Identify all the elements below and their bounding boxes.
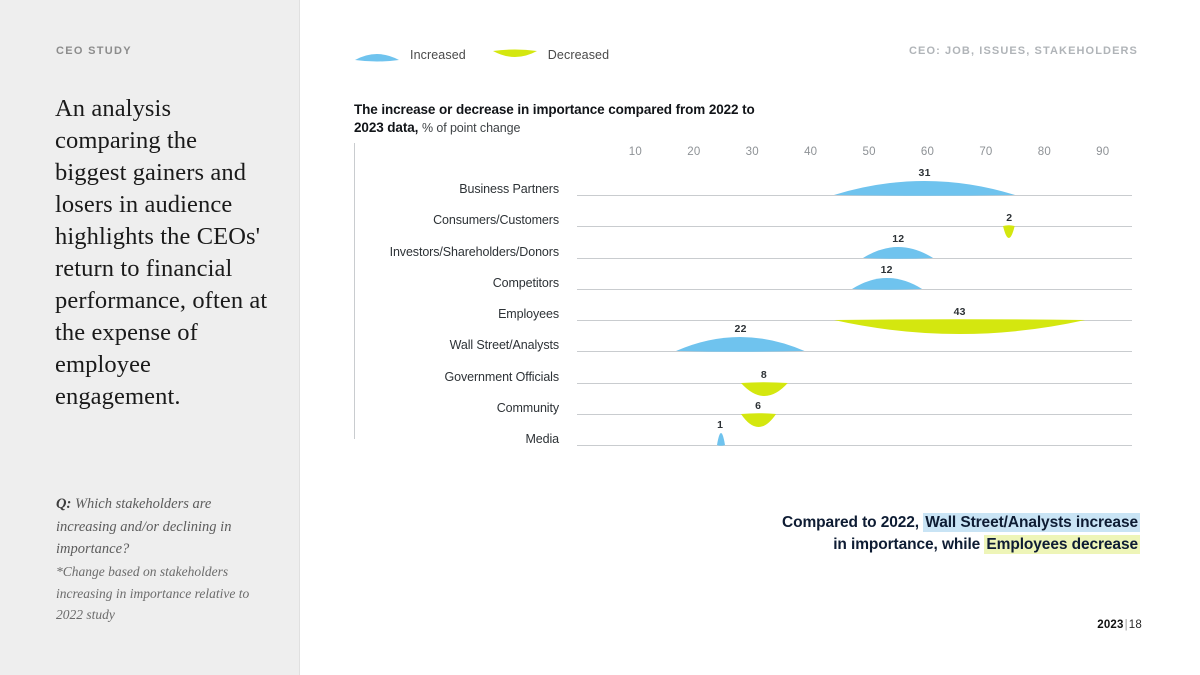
legend-item-decreased: Decreased	[492, 45, 609, 65]
slide-root: CEO STUDY An analysis comparing the bigg…	[0, 0, 1200, 675]
chart-row: Competitors12	[354, 264, 1140, 295]
row-baseline	[577, 351, 1132, 352]
row-label-employees: Employees	[354, 307, 559, 321]
value-label: 43	[954, 306, 966, 318]
lens-shape-increased	[850, 276, 924, 291]
x-axis-tick-80: 80	[1038, 146, 1051, 158]
row-baseline	[577, 226, 1132, 227]
legend-item-increased: Increased	[354, 45, 466, 65]
legend-label-decreased: Decreased	[548, 48, 609, 62]
sidebar: CEO STUDY An analysis comparing the bigg…	[0, 0, 300, 675]
lens-shape-increased	[715, 431, 727, 447]
question-text: Which stakeholders are increasing and/or…	[56, 496, 231, 557]
question-marker: Q:	[56, 496, 71, 512]
row-label-wall-street-analysts: Wall Street/Analysts	[354, 338, 559, 352]
sidebar-question: Q: Which stakeholders are increasing and…	[56, 493, 271, 561]
x-axis-tick-30: 30	[746, 146, 759, 158]
row-baseline	[577, 258, 1132, 259]
header-section-label: CEO: JOB, ISSUES, STAKEHOLDERS	[909, 45, 1138, 57]
row-label-investors-shareholders-donors: Investors/Shareholders/Donors	[354, 245, 559, 259]
footer-year: 2023	[1097, 619, 1123, 631]
chart-row: Community6	[354, 389, 1140, 420]
footer-separator: |	[1125, 619, 1128, 631]
row-baseline	[577, 414, 1132, 415]
value-label: 2	[1006, 212, 1012, 224]
row-label-government-officials: Government Officials	[354, 370, 559, 384]
value-label: 31	[919, 167, 931, 179]
chart-row-list: Business Partners31Consumers/Customers2I…	[354, 170, 1140, 452]
lens-shape-increased	[832, 179, 1017, 197]
chart-row: Wall Street/Analysts22	[354, 326, 1140, 357]
value-label: 1	[717, 419, 723, 431]
row-baseline	[577, 383, 1132, 384]
legend-label-increased: Increased	[410, 48, 466, 62]
decreased-lens-icon	[492, 45, 538, 65]
row-label-media: Media	[354, 432, 559, 446]
footer-pagination: 2023|18	[1097, 619, 1142, 631]
row-label-business-partners: Business Partners	[354, 182, 559, 196]
x-axis-tick-70: 70	[979, 146, 992, 158]
callout-highlight-blue: Wall Street/Analysts increase	[923, 513, 1140, 532]
chart-row: Investors/Shareholders/Donors12	[354, 233, 1140, 264]
chart-row: Employees43	[354, 295, 1140, 326]
sidebar-lede-paragraph: An analysis comparing the biggest gainer…	[55, 93, 270, 413]
chart-title-subtitle: % of point change	[422, 121, 520, 135]
lens-shape-increased	[674, 335, 807, 353]
x-axis-tick-60: 60	[921, 146, 934, 158]
value-label: 12	[892, 233, 904, 245]
chart-legend: Increased Decreased	[354, 45, 609, 65]
callout-lead: Compared to 2022,	[782, 514, 919, 531]
chart-row: Consumers/Customers2	[354, 201, 1140, 232]
chart-row: Business Partners31	[354, 170, 1140, 201]
x-axis-tick-40: 40	[804, 146, 817, 158]
sidebar-footnote: *Change based on stakeholders increasing…	[56, 561, 271, 626]
value-label: 6	[755, 400, 761, 412]
x-axis-tick-50: 50	[862, 146, 875, 158]
sidebar-eyebrow: CEO STUDY	[56, 45, 132, 57]
row-label-consumers-customers: Consumers/Customers	[354, 213, 559, 227]
chart-row: Media1	[354, 420, 1140, 451]
value-label: 12	[881, 264, 893, 276]
increased-lens-icon	[354, 45, 400, 65]
chart-row: Government Officials8	[354, 358, 1140, 389]
row-label-competitors: Competitors	[354, 276, 559, 290]
footer-page-number: 18	[1129, 619, 1142, 631]
chart-title-main: The increase or decrease in importance c…	[354, 102, 755, 135]
row-baseline	[577, 445, 1132, 446]
x-axis-tick-90: 90	[1096, 146, 1109, 158]
row-label-community: Community	[354, 401, 559, 415]
callout-highlight-yellow: Employees decrease	[984, 535, 1140, 554]
chart-title: The increase or decrease in importance c…	[354, 101, 784, 137]
chart-canvas: 102030405060708090 Business Partners31Co…	[354, 143, 1140, 443]
value-label: 8	[761, 369, 767, 381]
lens-shape-increased	[861, 245, 935, 260]
x-axis-tick-20: 20	[687, 146, 700, 158]
callout-statement: Compared to 2022, Wall Street/Analysts i…	[640, 512, 1140, 555]
callout-middle: in importance, while	[833, 536, 980, 553]
value-label: 22	[735, 323, 747, 335]
x-axis-tick-10: 10	[629, 146, 642, 158]
